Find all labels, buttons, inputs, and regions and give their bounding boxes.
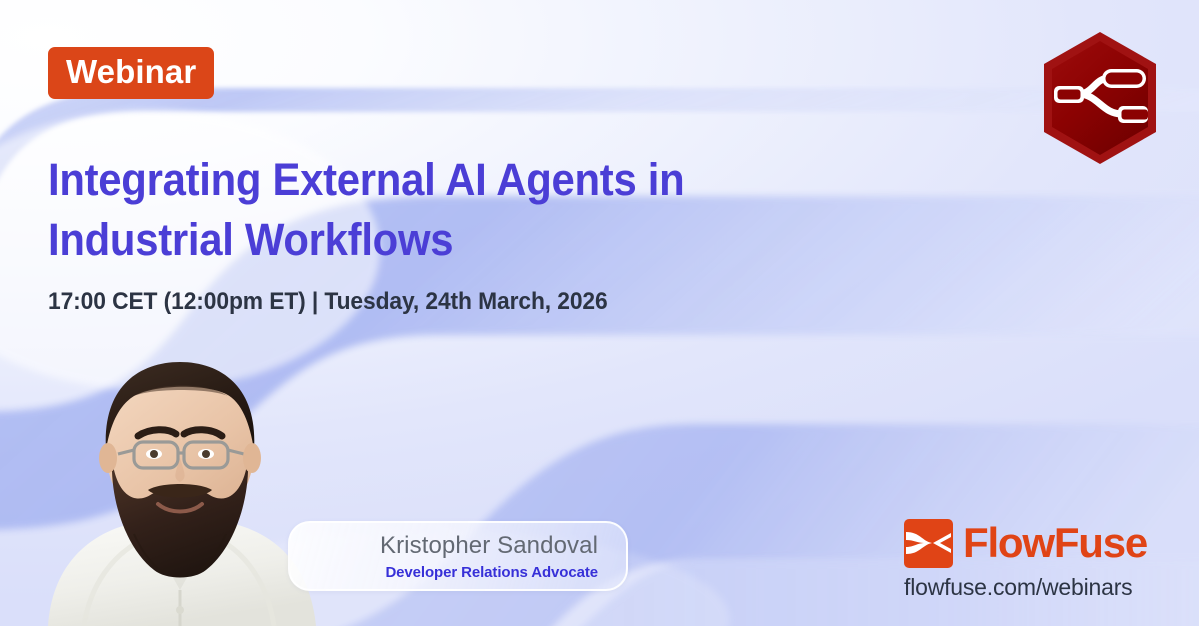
webinar-datetime: 17:00 CET (12:00pm ET) | Tuesday, 24th M… [48, 288, 608, 316]
webinar-promo-banner: Webinar Integrating External AI Agents i… [0, 0, 1199, 626]
speaker-role: Developer Relations Advocate [290, 564, 598, 581]
title-line-1: Integrating External AI Agents in [48, 150, 755, 210]
speaker-portrait-photo [30, 354, 330, 626]
flowfuse-mark-icon [904, 519, 953, 568]
flowfuse-logo-row: FlowFuse [904, 518, 1147, 568]
webinar-badge: Webinar [48, 47, 214, 99]
flowfuse-wordmark: FlowFuse [963, 522, 1147, 564]
title-line-2: Industrial Workflows [48, 210, 755, 270]
flowfuse-brand[interactable]: FlowFuse flowfuse.com/webinars [904, 518, 1147, 601]
speaker-name: Kristopher Sandoval [290, 532, 598, 560]
speaker-info-card: Kristopher Sandoval Developer Relations … [288, 521, 628, 591]
flowfuse-url[interactable]: flowfuse.com/webinars [904, 574, 1147, 601]
page-title: Integrating External AI Agents in Indust… [48, 150, 755, 270]
node-red-icon [1036, 28, 1164, 168]
